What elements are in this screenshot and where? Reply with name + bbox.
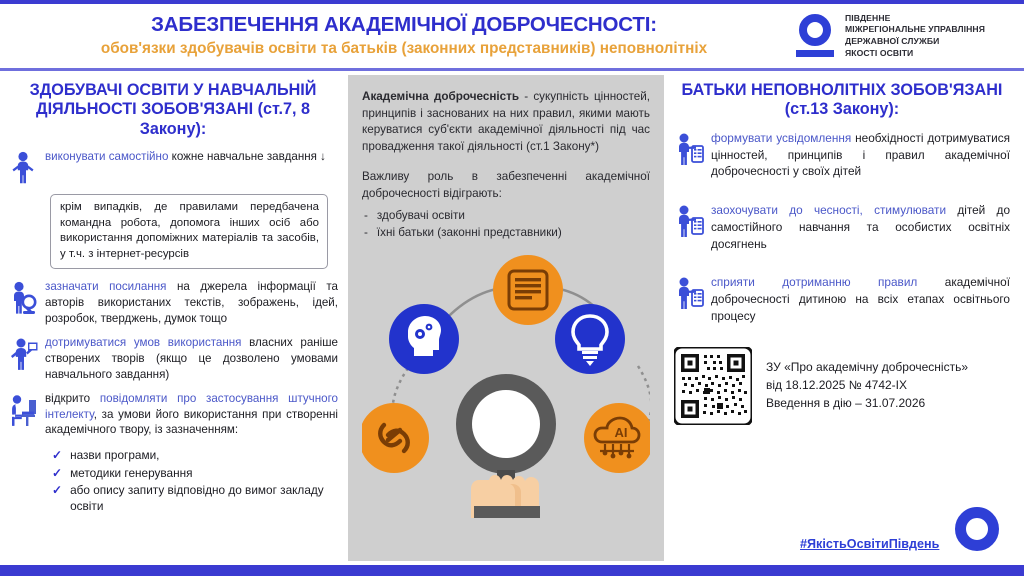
parent-with-checklist-icon	[674, 276, 704, 310]
highlight-text: заохочувати до чесності, стимулювати	[711, 203, 946, 217]
list-item-label: здобувачі освіти	[377, 207, 465, 225]
brain-gears-icon	[389, 304, 459, 374]
ring-logo-icon	[796, 14, 836, 58]
header-titles: ЗАБЕЗПЕЧЕННЯ АКАДЕМІЧНОЇ ДОБРОЧЕСНОСТІ: …	[0, 14, 790, 58]
list-item-text: зазначати посилання на джерела інформаці…	[45, 279, 338, 326]
hashtag-link[interactable]: #ЯкістьОсвітиПівдень	[800, 537, 939, 551]
ai-cloud-chip-icon: AI	[584, 403, 650, 473]
body-text-prefix: відкрито	[45, 392, 100, 405]
law-line-1: ЗУ «Про академічну доброчесність»	[766, 359, 968, 377]
list-item: зазначати посилання на джерела інформаці…	[8, 279, 338, 326]
person-with-book-icon	[8, 337, 38, 371]
lightbulb-icon	[555, 304, 625, 374]
highlight-text: зазначати посилання	[45, 280, 166, 293]
role-list: - здобувачі освіти - їхні батьки (законн…	[362, 207, 650, 242]
list-item-text: формувати усвідомлення необхідності дотр…	[711, 130, 1010, 180]
body-text: кожне навчальне завдання ↓	[168, 150, 326, 163]
list-item: дотримуватися умов використання власних …	[8, 335, 338, 382]
person-standing-icon	[8, 151, 38, 185]
check-icon: ✓	[52, 465, 62, 482]
law-line-3: Введення в дію – 31.07.2026	[766, 395, 968, 413]
list-item: виконувати самостійно кожне навчальне за…	[8, 149, 338, 185]
list-item-text: відкрито повідомляти про застосування шт…	[45, 391, 338, 438]
checklist: ✓ назви програми, ✓ методики генерування…	[52, 447, 338, 515]
org-logo-text: ПІВДЕННЕМІЖРЕГІОНАЛЬНЕ УПРАВЛІННЯДЕРЖАВН…	[845, 13, 985, 59]
checklist-item-label: методики генерування	[70, 465, 192, 481]
list-item-text: виконувати самостійно кожне навчальне за…	[45, 149, 338, 165]
middle-column: Академічна доброчесність - сукупність ці…	[348, 75, 664, 561]
list-item: ✓ назви програми,	[52, 447, 338, 464]
right-column-heading: БАТЬКИ НЕПОВНОЛІТНІХ ЗОБОВ'ЯЗАНІ (ст.13 …	[674, 81, 1010, 120]
bottom-rule	[0, 565, 1024, 576]
parent-with-checklist-icon	[674, 132, 704, 166]
org-logo: ПІВДЕННЕМІЖРЕГІОНАЛЬНЕ УПРАВЛІННЯДЕРЖАВН…	[790, 13, 985, 59]
header-divider	[0, 68, 1024, 71]
left-column: ЗДОБУВАЧІ ОСВІТИ У НАВЧАЛЬНІЙ ДІЯЛЬНОСТІ…	[0, 75, 348, 540]
definition-paragraph: Академічна доброчесність - сукупність ці…	[362, 89, 650, 155]
law-reference: ЗУ «Про академічну доброчесність» від 18…	[674, 347, 1010, 425]
integrity-graphic: AI	[362, 248, 650, 518]
bullet-dash: -	[364, 207, 368, 225]
checklist-item-label: назви програми,	[70, 447, 159, 463]
role-intro: Важливу роль в забезпеченні академічної …	[362, 169, 650, 202]
check-icon: ✓	[52, 447, 62, 464]
magnifier-in-hand-icon	[456, 374, 556, 518]
person-with-magnifier-icon	[8, 281, 38, 315]
list-item: сприяти дотриманню правил академічної до…	[674, 274, 1010, 324]
left-column-heading: ЗДОБУВАЧІ ОСВІТИ У НАВЧАЛЬНІЙ ДІЯЛЬНОСТІ…	[8, 81, 338, 139]
ring-logo-icon	[955, 507, 999, 551]
list-item-text: заохочувати до чесності, стимулювати діт…	[711, 202, 1010, 252]
header: ЗАБЕЗПЕЧЕННЯ АКАДЕМІЧНОЇ ДОБРОЧЕСНОСТІ: …	[0, 4, 1024, 68]
list-item-text: дотримуватися умов використання власних …	[45, 335, 338, 382]
parent-with-checklist-icon	[674, 204, 704, 238]
page-subtitle: обов'язки здобувачів освіти та батьків (…	[18, 40, 790, 58]
note-box: крім випадків, де правилами передбачена …	[50, 194, 328, 269]
list-item: ✓ методики генерування	[52, 465, 338, 482]
list-item: відкрито повідомляти про застосування шт…	[8, 391, 338, 438]
definition-term: Академічна доброчесність	[362, 90, 519, 103]
highlight-text: формувати усвідомлення	[711, 131, 851, 145]
document-lines-icon	[493, 255, 563, 325]
qr-code-icon[interactable]	[674, 347, 752, 425]
law-text: ЗУ «Про академічну доброчесність» від 18…	[766, 359, 968, 412]
list-item-text: сприяти дотриманню правил академічної до…	[711, 274, 1010, 324]
highlight-text: виконувати самостійно	[45, 150, 168, 163]
page-title: ЗАБЕЗПЕЧЕННЯ АКАДЕМІЧНОЇ ДОБРОЧЕСНОСТІ:	[18, 14, 790, 37]
list-item: формувати усвідомлення необхідності дотр…	[674, 130, 1010, 180]
law-line-2: від 18.12.2025 № 4742-IX	[766, 377, 968, 395]
highlight-text: дотримуватися умов використання	[45, 336, 241, 349]
person-at-computer-icon	[8, 393, 38, 427]
list-item-label: їхні батьки (законні представники)	[377, 224, 562, 242]
infographic-page: ЗАБЕЗПЕЧЕННЯ АКАДЕМІЧНОЇ ДОБРОЧЕСНОСТІ: …	[0, 0, 1024, 576]
checklist-item-label: або опису запиту відповідно до вимог зак…	[70, 482, 338, 515]
svg-text:AI: AI	[615, 425, 628, 440]
list-item: - їхні батьки (законні представники)	[362, 224, 650, 242]
list-item: заохочувати до чесності, стимулювати діт…	[674, 202, 1010, 252]
chain-link-icon	[362, 403, 429, 473]
list-item: ✓ або опису запиту відповідно до вимог з…	[52, 482, 338, 515]
check-icon: ✓	[52, 482, 62, 499]
list-item: - здобувачі освіти	[362, 207, 650, 225]
right-column: БАТЬКИ НЕПОВНОЛІТНІХ ЗОБОВ'ЯЗАНІ (ст.13 …	[664, 75, 1024, 540]
bullet-dash: -	[364, 224, 368, 242]
highlight-text: сприяти дотриманню правил	[711, 275, 917, 289]
